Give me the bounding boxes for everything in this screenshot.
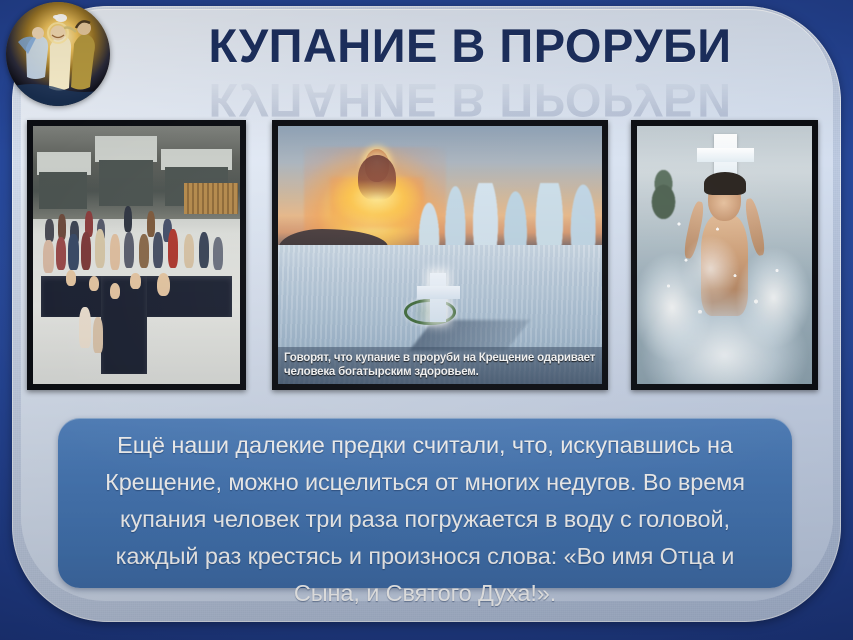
slide-root: КУПАНИЕ В ПРОРУБИ КУПАНИЕ В ПРОРУБИ	[0, 0, 853, 640]
page-title: КУПАНИЕ В ПРОРУБИ	[150, 18, 790, 74]
christ-figure	[349, 149, 404, 226]
baptism-of-christ-icon	[6, 2, 110, 106]
body-text-callout: Ещё наши далекие предки считали, что, ис…	[58, 418, 792, 588]
ice-cross-icon	[430, 273, 446, 322]
slide-header: КУПАНИЕ В ПРОРУБИ КУПАНИЕ В ПРОРУБИ	[0, 0, 853, 112]
body-text: Ещё наши далекие предки считали, что, ис…	[80, 427, 770, 612]
photo-ice-hole-painting[interactable]	[27, 120, 246, 390]
photo-frozen-lake-christ-canvas: Говорят, что купание в проруби на Крещен…	[278, 126, 602, 384]
photo-man-in-ice-hole[interactable]	[631, 120, 818, 390]
photo-frozen-lake-christ[interactable]: Говорят, что купание в проруби на Крещен…	[272, 120, 608, 390]
photo-man-in-ice-hole-canvas	[637, 126, 812, 384]
photo-ice-hole-painting-canvas	[33, 126, 240, 384]
photo-caption: Говорят, что купание в проруби на Крещен…	[278, 347, 602, 384]
